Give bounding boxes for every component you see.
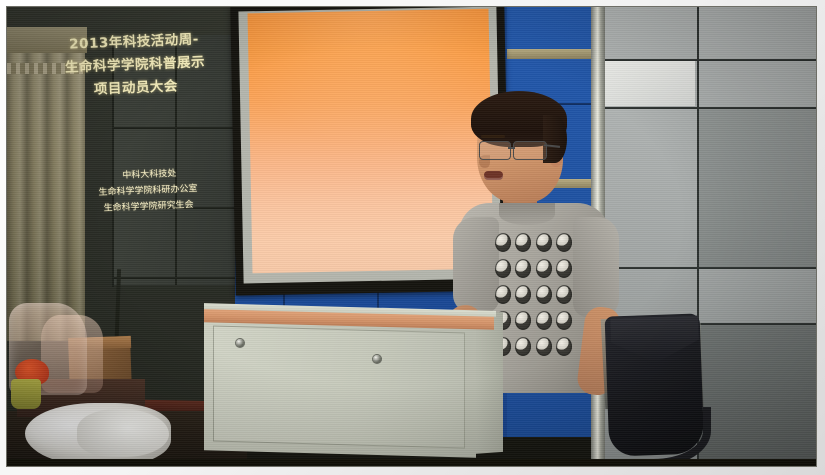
tshirt-badge-icon bbox=[515, 233, 531, 252]
slide-subtitle: 中科大科技处 生命科学学院科研办公室 生命科学学院研究生会 bbox=[58, 163, 238, 218]
tile-seam bbox=[605, 267, 816, 269]
tshirt-badge-icon bbox=[536, 233, 552, 252]
tshirt-badge-icon bbox=[556, 285, 572, 304]
tshirt-badge-icon bbox=[556, 311, 572, 330]
photograph: 2013年科技活动周- 生命科学学院科普展示 项目动员大会 中科大科技处 生命科… bbox=[7, 7, 816, 466]
white-cloth-fold bbox=[77, 409, 169, 457]
sleeve-left bbox=[453, 217, 499, 313]
tshirt-badge-icon bbox=[515, 311, 531, 330]
tshirt-badge-icon bbox=[536, 311, 552, 330]
tshirt-badge-icon bbox=[536, 259, 552, 278]
plastic-wrapped-bundle bbox=[41, 315, 103, 393]
floor-foreground-band bbox=[7, 459, 816, 466]
glasses-lens-right bbox=[513, 141, 547, 160]
tshirt-badge-icon bbox=[515, 285, 531, 304]
tshirt-badge-grid bbox=[495, 233, 573, 363]
podium-knob-icon[interactable] bbox=[236, 339, 244, 347]
wall-trim-strip bbox=[507, 49, 599, 59]
glasses-bridge bbox=[508, 147, 515, 149]
basket bbox=[11, 379, 41, 409]
tshirt-badge-icon bbox=[495, 285, 511, 304]
tshirt-badge-icon bbox=[495, 233, 511, 252]
tshirt-badge-icon bbox=[556, 233, 572, 252]
wall-tile-shaded bbox=[699, 107, 816, 267]
photo-frame: 2013年科技活动周- 生命科学学院科普展示 项目动员大会 中科大科技处 生命科… bbox=[0, 0, 825, 475]
tshirt-badge-icon bbox=[515, 259, 531, 278]
tshirt-badge-icon bbox=[556, 337, 572, 356]
eyebrow bbox=[481, 135, 505, 138]
tshirt-badge-icon bbox=[536, 285, 552, 304]
tshirt-badge-icon bbox=[536, 337, 552, 356]
wall-tile-shaded bbox=[699, 325, 816, 466]
podium-inset-panel bbox=[213, 325, 465, 448]
tshirt-badge-icon bbox=[515, 337, 531, 356]
shirt-collar bbox=[499, 203, 555, 225]
tile-seam bbox=[605, 107, 816, 109]
sleeve-right bbox=[573, 217, 619, 317]
tshirt-badge-icon bbox=[556, 259, 572, 278]
podium-knob-icon[interactable] bbox=[373, 355, 381, 363]
slide-title: 2013年科技活动周- 生命科学学院科普展示 项目动员大会 bbox=[34, 27, 237, 104]
mouth bbox=[484, 171, 503, 180]
glasses-lens-left bbox=[479, 141, 511, 160]
tshirt-badge-icon bbox=[495, 259, 511, 278]
tile-seam bbox=[605, 59, 816, 61]
